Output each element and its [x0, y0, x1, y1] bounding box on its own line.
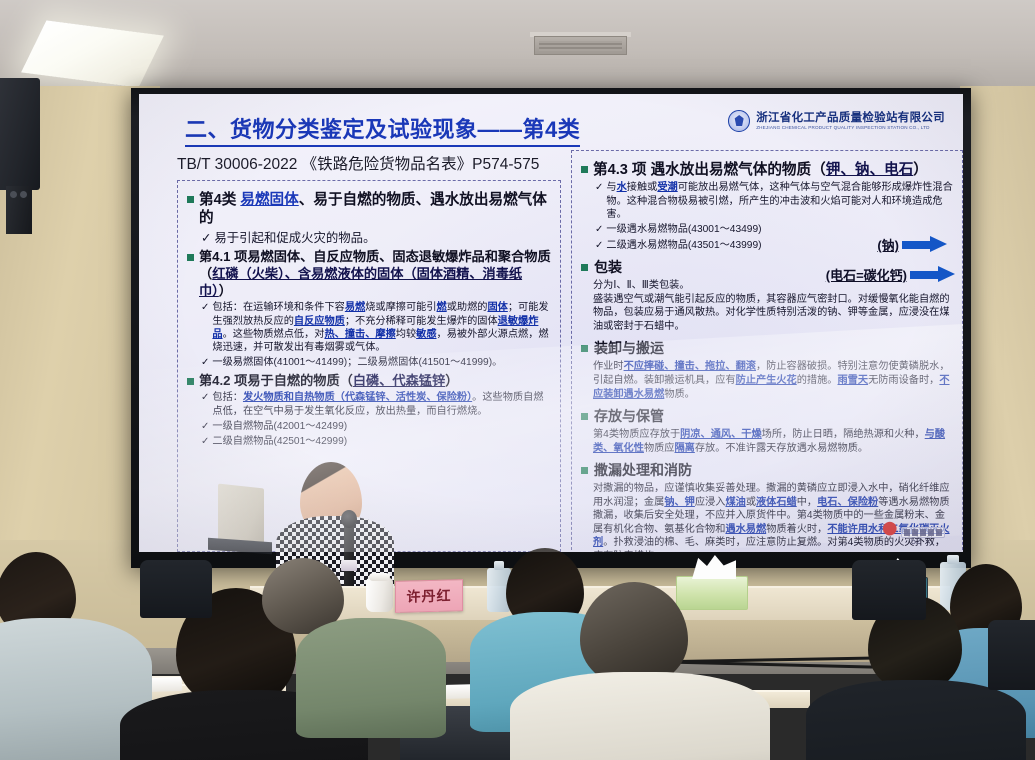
- right-arrow-icon: [910, 266, 956, 283]
- presenter-nameplate: 许丹红: [395, 579, 463, 613]
- slide-page-number: 52: [911, 536, 921, 546]
- check-4-3-code-1-label: 一级遇水易燃物品(43001～43499): [606, 223, 761, 236]
- check-class4-desc: ✓ 易于引起和促成火灾的物品。: [201, 230, 551, 247]
- standard-reference: TB/T 30006-2022 《铁路危险货物品名表》P574-575: [177, 152, 539, 174]
- para-handling: 作业时不应摔碰、撞击、拖拉、翻滚，防止容器破损。特别注意勿使黄磷脱水，引起自燃。…: [593, 360, 953, 401]
- slide-right-column: 第4.3 项 遇水放出易燃气体的物质（钾、钠、电石） ✓ 与水接触或受潮可能放出…: [571, 150, 963, 552]
- check-4-2-include: ✓ 包括：发火物质和自热物质（代森锰锌、活性炭、保险粉）。这些物质自燃点低，在空…: [201, 391, 551, 418]
- para-storage: 第4类物质应存放于阴凉、通风、干燥场所，防止日晒，隔绝热源和火种，与酸类、氧化性…: [593, 428, 953, 455]
- presenter-name-label: 许丹红: [407, 585, 452, 606]
- bullet-square-icon: [187, 196, 194, 203]
- check-4-1-codes-label: 一级易燃固体(41001～41499)；二级易燃固体(41501～41999)。: [212, 356, 502, 369]
- ceiling-air-vent: [534, 36, 627, 55]
- toolbar-glyph-icon: [904, 529, 910, 536]
- slide-title: 二、货物分类鉴定及试验现象——第4类: [185, 112, 580, 147]
- lecture-room-photo: 二、货物分类鉴定及试验现象——第4类 浙江省化工产品质量检验站有限公司 ZHEJ…: [0, 0, 1035, 760]
- audience-body: [806, 680, 1026, 760]
- bullet-4-1-label: 第4.1 项易燃固体、自反应物质、固态退敏爆炸品和聚合物质（红磷（火柴）、含易燃…: [199, 249, 551, 299]
- section-handling: 装卸与搬运: [581, 338, 953, 358]
- bullet-square-icon: [187, 254, 194, 261]
- para-packaging: 分为Ⅰ、Ⅱ、Ⅲ类包装。盛装遇空气或潮气能引起反应的物质，其容器应气密封口。对缓慢…: [593, 279, 953, 333]
- check-4-3-code-2-label: 二级遇水易燃物品(43501～43999): [606, 239, 761, 252]
- section-packaging-label: 包装: [594, 257, 622, 277]
- bullet-square-icon: [581, 413, 588, 420]
- check-4-2-include-label: 包括：发火物质和自热物质（代森锰锌、活性炭、保险粉）。这些物质自燃点低，在空气中…: [212, 391, 551, 418]
- toolbar-glyph-icon: [928, 529, 934, 536]
- check-icon: ✓: [201, 391, 209, 405]
- check-4-2-code-1: ✓ 一级自燃物品(42001～42499): [201, 420, 551, 434]
- check-icon: ✓: [201, 356, 209, 370]
- section-spill-label: 撒漏处理和消防: [594, 460, 692, 480]
- callout-carbide: (电石=碳化钙): [826, 265, 956, 284]
- check-icon: ✓: [595, 223, 603, 237]
- company-name-en: ZHEJIANG CHEMICAL PRODUCT QUALITY INSPEC…: [756, 125, 945, 130]
- check-icon: ✓: [201, 301, 209, 315]
- bullet-4-3: 第4.3 项 遇水放出易燃气体的物质（钾、钠、电石）: [581, 161, 953, 179]
- section-storage: 存放与保管: [581, 406, 953, 426]
- audience-chair-far-right[interactable]: [988, 620, 1035, 690]
- audience-chair-left[interactable]: [140, 560, 212, 618]
- section-storage-label: 存放与保管: [594, 406, 664, 426]
- bullet-class4: 第4类 易燃固体、易于自燃的物质、遇水放出易燃气体的: [187, 191, 551, 228]
- check-4-3-desc-label: 与水接触或受潮可能放出易燃气体，这种气体与空气混合能够形成爆炸性混合物。这种混合…: [606, 181, 953, 221]
- company-name-cn: 浙江省化工产品质量检验站有限公司: [756, 112, 945, 124]
- laptop-lid: [218, 484, 264, 547]
- presentation-slide: 二、货物分类鉴定及试验现象——第4类 浙江省化工产品质量检验站有限公司 ZHEJ…: [139, 94, 963, 552]
- callout-sodium-label: (钠): [877, 235, 899, 254]
- bullet-4-2-label: 第4.2 项易于自燃的物质（白磷、代森锰锌）: [199, 373, 458, 390]
- company-logo-icon: [728, 110, 750, 132]
- toolbar-glyph-icon: [936, 529, 942, 536]
- bullet-square-icon: [187, 378, 194, 385]
- para-spill: 对撒漏的物品，应谨慎收集妥善处理。撒漏的黄磷应立即浸入水中，硝化纤维应用水润湿；…: [593, 482, 953, 552]
- section-spill: 撒漏处理和消防: [581, 460, 953, 480]
- bullet-4-1: 第4.1 项易燃固体、自反应物质、固态退敏爆炸品和聚合物质（红磷（火柴）、含易燃…: [187, 249, 551, 299]
- bullet-square-icon: [581, 467, 588, 474]
- check-4-1-include-label: 包括：在运输环境和条件下容易燃烧或摩擦可能引燃或助燃的固体；可能发生强烈放热反应…: [212, 301, 551, 354]
- right-arrow-icon: [902, 236, 948, 253]
- check-icon: ✓: [595, 239, 603, 253]
- bullet-square-icon: [581, 264, 588, 271]
- check-4-1-include: ✓ 包括：在运输环境和条件下容易燃烧或摩擦可能引燃或助燃的固体；可能发生强烈放热…: [201, 301, 551, 354]
- watermark-stamp: ⬤: [882, 521, 897, 536]
- check-icon: ✓: [201, 420, 209, 434]
- wall-speaker-bracket: [6, 186, 32, 234]
- tissue-box-green: [676, 576, 748, 610]
- bullet-square-icon: [581, 166, 588, 173]
- check-4-3-desc: ✓ 与水接触或受潮可能放出易燃气体，这种气体与空气混合能够形成爆炸性混合物。这种…: [595, 181, 953, 221]
- check-class4-desc-label: 易于引起和促成火灾的物品。: [214, 230, 375, 246]
- toolbar-glyph-icon: [912, 529, 918, 536]
- tea-cup: [366, 578, 393, 612]
- bullet-square-icon: [581, 345, 588, 352]
- check-icon: ✓: [201, 435, 209, 449]
- company-logo: 浙江省化工产品质量检验站有限公司 ZHEJIANG CHEMICAL PRODU…: [728, 110, 945, 132]
- callout-carbide-label: (电石=碳化钙): [826, 265, 907, 284]
- audience-chair-right[interactable]: [852, 560, 926, 620]
- bullet-4-2: 第4.2 项易于自燃的物质（白磷、代森锰锌）: [187, 373, 551, 390]
- check-icon: ✓: [201, 230, 211, 247]
- callout-sodium: (钠): [877, 235, 948, 254]
- audience-body: [510, 672, 770, 760]
- wall-speaker: [0, 78, 40, 190]
- microphone-badge: [341, 560, 357, 571]
- check-4-2-code-2-label: 二级自燃物品(42501～42999): [212, 435, 347, 448]
- audience-body: [296, 618, 446, 738]
- watermark-toolbar: [901, 527, 945, 538]
- bullet-4-3-label: 第4.3 项 遇水放出易燃气体的物质（钾、钠、电石）: [593, 161, 928, 179]
- check-4-1-codes: ✓ 一级易燃固体(41001～41499)；二级易燃固体(41501～41999…: [201, 356, 551, 370]
- bullet-class4-label: 第4类 易燃固体、易于自燃的物质、遇水放出易燃气体的: [199, 191, 551, 228]
- check-4-2-code-1-label: 一级自燃物品(42001～42499): [212, 420, 347, 433]
- toolbar-glyph-icon: [920, 529, 926, 536]
- section-handling-label: 装卸与搬运: [594, 338, 664, 358]
- check-icon: ✓: [595, 181, 603, 195]
- check-4-2-code-2: ✓ 二级自燃物品(42501～42999): [201, 435, 551, 449]
